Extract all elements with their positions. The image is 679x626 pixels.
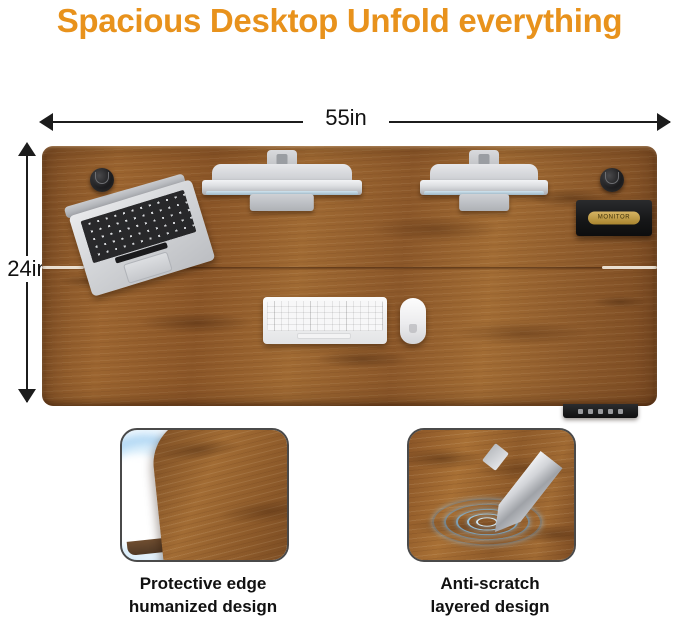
page-title: Spacious Desktop Unfold everything (0, 2, 679, 40)
control-button-1[interactable] (578, 409, 583, 414)
speaker-nameplate: MONITOR (588, 212, 640, 225)
control-button-2[interactable] (588, 409, 593, 414)
scratch-ripple-1-icon (476, 517, 498, 526)
control-button-3[interactable] (598, 409, 603, 414)
caption-anti-scratch: Anti-scratch layered design (360, 573, 620, 619)
depth-arrow-down-icon (18, 389, 36, 403)
monitor-right-base (459, 194, 509, 211)
depth-arrow-up-icon (18, 142, 36, 156)
monitor-left-base (250, 194, 314, 211)
caption-protective-edge-line2: humanized design (73, 596, 333, 619)
control-button-4[interactable] (608, 409, 613, 414)
grommet-right-icon (600, 168, 624, 192)
control-button-5[interactable] (618, 409, 623, 414)
grommet-left-icon (90, 168, 114, 192)
caption-protective-edge-line1: Protective edge (140, 574, 267, 593)
desk-top-highlight (42, 146, 657, 148)
width-arrow-right-icon (657, 113, 671, 131)
keyboard-keys (267, 301, 383, 331)
height-control-panel[interactable] (563, 404, 638, 418)
keyboard-spacebar (297, 333, 351, 339)
monitor-left (212, 150, 352, 212)
monitor-right (430, 150, 538, 212)
caption-protective-edge: Protective edge humanized design (73, 573, 333, 619)
width-arrow-left-icon (39, 113, 53, 131)
feature-card-protective-edge (120, 428, 289, 562)
speaker-box: MONITOR (576, 200, 652, 236)
caption-anti-scratch-line1: Anti-scratch (440, 574, 539, 593)
width-dimension-label: 55in (303, 105, 389, 131)
seam-nick-left (42, 266, 84, 269)
feature-card-anti-scratch (407, 428, 576, 562)
mouse (400, 298, 426, 344)
rounded-corner-icon (149, 428, 289, 562)
keyboard (263, 297, 387, 344)
caption-anti-scratch-line2: layered design (360, 596, 620, 619)
seam-nick-right (602, 266, 657, 269)
